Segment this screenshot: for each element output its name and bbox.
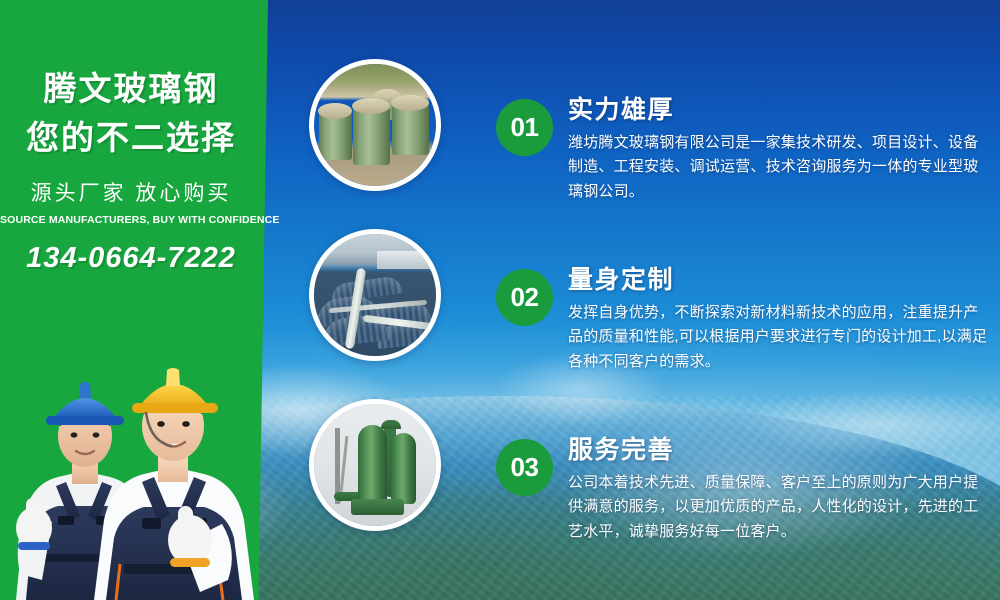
scrubber-tower-right <box>391 433 417 504</box>
background-buildings <box>377 251 431 269</box>
brand-slogan: 源头厂家 放心购买 <box>0 177 262 207</box>
workers-photo <box>0 368 268 600</box>
basin-covers-image <box>314 234 436 356</box>
feature-block-2: 02 量身定制 发挥自身优势，不断探索对新材料新技术的应用，注重提升产品的质量和… <box>496 267 990 374</box>
feature-title-2: 量身定制 <box>568 267 990 294</box>
feature-description-3: 公司本着技术先进、质量保障、客户至上的原则为广大用户提供满意的服务，以更加优质的… <box>568 471 990 544</box>
scrubber-towers-image <box>314 404 436 526</box>
feature-text-1: 实力雄厚 潍坊腾文玻璃钢有限公司是一家集技术研发、项目设计、设备制造、工程安装、… <box>568 97 990 204</box>
feature-description-1: 潍坊腾文玻璃钢有限公司是一家集技术研发、项目设计、设备制造、工程安装、调试运营、… <box>568 131 990 204</box>
feature-number-badge-2: 02 <box>496 269 553 326</box>
storage-tanks-image <box>314 64 436 186</box>
feature-description-2: 发挥自身优势，不断探索对新材料新技术的应用，注重提升产品的质量和性能,可以根据用… <box>568 301 990 374</box>
product-photo-basin-covers[interactable] <box>309 229 441 361</box>
contact-phone-number[interactable]: 134-0664-7222 <box>0 242 262 275</box>
brand-block: 腾文玻璃钢 您的不二选择 源头厂家 放心购买 SOURCE MANUFACTUR… <box>0 0 262 275</box>
scrubber-tower-left <box>358 425 387 506</box>
tank-right <box>392 104 429 155</box>
tank-left <box>319 112 352 161</box>
feature-number-badge-3: 03 <box>496 439 553 496</box>
product-photo-storage-tanks[interactable] <box>309 59 441 191</box>
feature-number-badge-1: 01 <box>496 99 553 156</box>
feature-text-3: 服务完善 公司本着技术先进、质量保障、客户至上的原则为广大用户提供满意的服务，以… <box>568 437 990 544</box>
brand-title: 腾文玻璃钢 <box>0 72 262 107</box>
feature-block-3: 03 服务完善 公司本着技术先进、质量保障、客户至上的原则为广大用户提供满意的服… <box>496 437 990 544</box>
feature-block-1: 01 实力雄厚 潍坊腾文玻璃钢有限公司是一家集技术研发、项目设计、设备制造、工程… <box>496 97 990 204</box>
duct-elbow <box>381 420 401 429</box>
equipment-base <box>351 499 405 515</box>
brand-subtitle: 您的不二选择 <box>0 121 262 156</box>
brand-slogan-en: SOURCE MANUFACTURERS, BUY WITH CONFIDENC… <box>0 214 262 226</box>
feature-text-2: 量身定制 发挥自身优势，不断探索对新材料新技术的应用，注重提升产品的质量和性能,… <box>568 267 990 374</box>
workers-illustration <box>0 368 268 600</box>
feature-title-3: 服务完善 <box>568 437 990 464</box>
feature-title-1: 实力雄厚 <box>568 97 990 124</box>
product-photo-scrubber-towers[interactable] <box>309 399 441 531</box>
promotional-banner: 腾文玻璃钢 您的不二选择 源头厂家 放心购买 SOURCE MANUFACTUR… <box>0 0 1000 600</box>
tank-center <box>353 107 390 166</box>
